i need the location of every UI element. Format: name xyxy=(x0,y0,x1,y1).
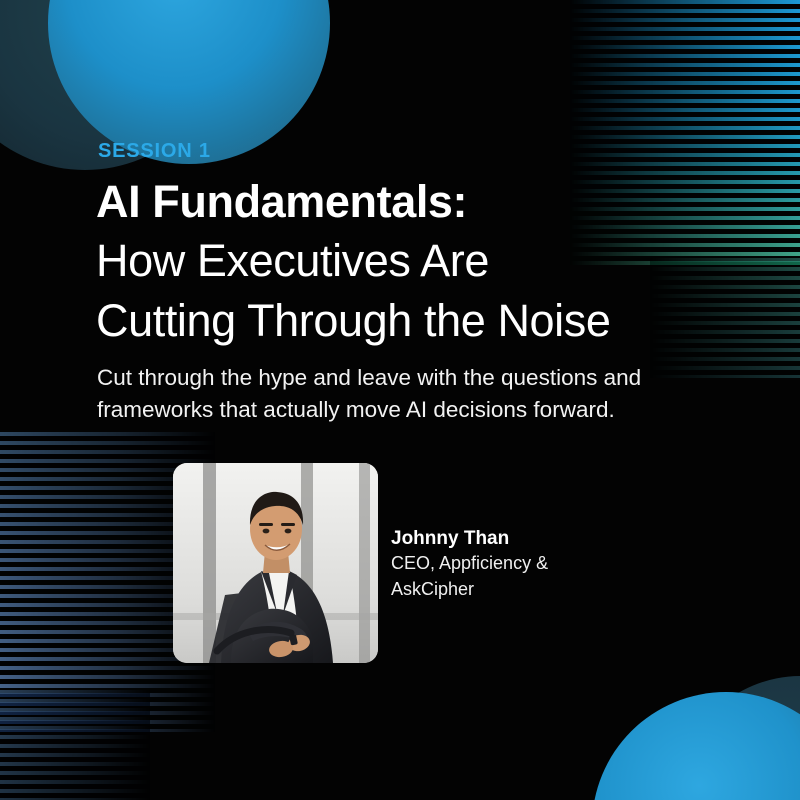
speaker-title-line-2: AskCipher xyxy=(391,577,621,603)
speaker-photo xyxy=(173,463,378,663)
subtitle-line-2: frameworks that actually move AI decisio… xyxy=(97,394,747,426)
subtitle: Cut through the hype and leave with the … xyxy=(97,362,747,426)
subtitle-line-1: Cut through the hype and leave with the … xyxy=(97,362,747,394)
promo-canvas: SESSION 1 AI Fundamentals: How Executive… xyxy=(0,0,800,800)
headline-line-1: AI Fundamentals: xyxy=(96,172,736,231)
headline-line-2: How Executives Are xyxy=(96,231,736,290)
logo-row: ASKCIPHER x appficiency x snapon softwar… xyxy=(0,690,800,782)
session-label: SESSION 1 xyxy=(98,140,211,163)
speaker-title: CEO, Appficiency & AskCipher xyxy=(391,551,621,602)
page-title: AI Fundamentals: How Executives Are Cutt… xyxy=(96,172,736,350)
headline-line-3: Cutting Through the Noise xyxy=(96,291,736,350)
speaker-name: Johnny Than xyxy=(391,528,509,550)
speaker-title-line-1: CEO, Appficiency & xyxy=(391,551,621,577)
speaker-portrait-illustration xyxy=(173,463,378,663)
